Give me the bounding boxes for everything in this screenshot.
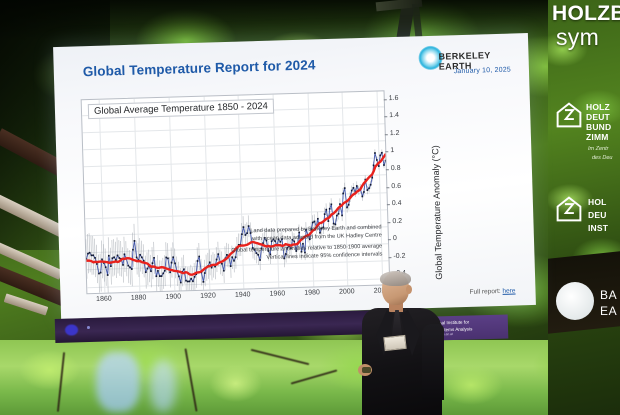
speaker-hair — [380, 271, 411, 286]
projector-blue-dot — [65, 324, 78, 335]
y-tick-label: -0.2 — [393, 252, 405, 259]
full-report-label: Full report: — [470, 288, 501, 296]
x-tick-label: 2000 — [339, 288, 355, 295]
y-tick-mark — [387, 222, 390, 223]
y-tick-label: 0 — [393, 235, 397, 242]
banner-logo1-sub1: Im Zentr — [588, 146, 608, 153]
y-tick-label: 0.6 — [391, 182, 401, 189]
y-tick-mark — [388, 257, 391, 258]
y-tick-label: 1 — [390, 147, 394, 154]
y-tick-mark — [385, 152, 388, 153]
x-tick-label: 1940 — [235, 291, 251, 298]
banner-logo2-line2: DEU — [588, 211, 607, 221]
berkeley-earth-circle-logo — [556, 282, 594, 320]
speaker — [356, 272, 448, 415]
sky-gap-secondary — [150, 360, 176, 412]
y-tick-label: 0.8 — [391, 165, 401, 172]
slide-title: Global Temperature Report for 2024 — [83, 57, 316, 79]
x-tick-label: 1900 — [165, 293, 181, 300]
y-tick-label: 0.4 — [392, 200, 402, 207]
full-report-note: Full report: here — [470, 287, 516, 295]
x-tick-label: 1980 — [304, 289, 320, 296]
presenter-remote — [362, 367, 371, 373]
temperature-chart: Global Average Temperature 1850 - 2024 L… — [81, 90, 391, 294]
y-axis-label: Global Temperature Anomaly (°C) — [430, 145, 444, 280]
banner-berkeley-line2: EA — [600, 304, 617, 318]
x-tick-label: 1920 — [200, 292, 216, 299]
y-tick-mark — [387, 204, 390, 205]
speaker-arm-right — [422, 324, 444, 400]
full-report-link[interactable]: here — [502, 287, 515, 294]
banner-logo2-line1: HOL — [588, 198, 607, 208]
right-banner-panel: HOLZB sym HOLZ DEUT BUND ZIMM Im Zentr d… — [548, 0, 620, 415]
x-tick-label: 1860 — [96, 295, 112, 302]
banner-berkeley-line1: BA — [600, 288, 617, 302]
banner-headline-top: HOLZB — [552, 2, 620, 26]
chart-series-svg — [82, 91, 390, 293]
y-tick-label: 1.2 — [390, 130, 400, 137]
y-tick-mark — [386, 169, 389, 170]
speaker-ear — [406, 285, 412, 294]
y-tick-mark — [385, 134, 388, 135]
x-tick-label: 1880 — [131, 294, 147, 301]
house-logo-icon — [556, 102, 582, 128]
y-tick-label: 1.6 — [389, 95, 399, 102]
x-tick-label: 1960 — [270, 290, 286, 297]
speaker-name-badge — [383, 335, 406, 351]
projected-slide: Global Temperature Report for 2024 BERKE… — [53, 33, 536, 319]
y-tick-label: 0.2 — [392, 217, 402, 224]
stage-photo: HOLZB sym HOLZ DEUT BUND ZIMM Im Zentr d… — [0, 0, 620, 415]
banner-logo1-sub2: des Deu — [592, 155, 613, 162]
y-tick-mark — [388, 239, 391, 240]
banner-logo1-line4: ZIMM — [586, 133, 609, 143]
banner-headline-bottom: sym — [556, 24, 599, 51]
y-tick-mark — [384, 99, 387, 100]
y-tick-mark — [386, 187, 389, 188]
sky-gap — [96, 352, 140, 412]
projector-blue-dot-small — [87, 326, 90, 329]
banner-logo2-line3: INST — [588, 224, 608, 234]
y-tick-mark — [384, 117, 387, 118]
y-tick-label: 1.4 — [389, 112, 399, 119]
house-logo-icon-secondary — [556, 196, 582, 222]
